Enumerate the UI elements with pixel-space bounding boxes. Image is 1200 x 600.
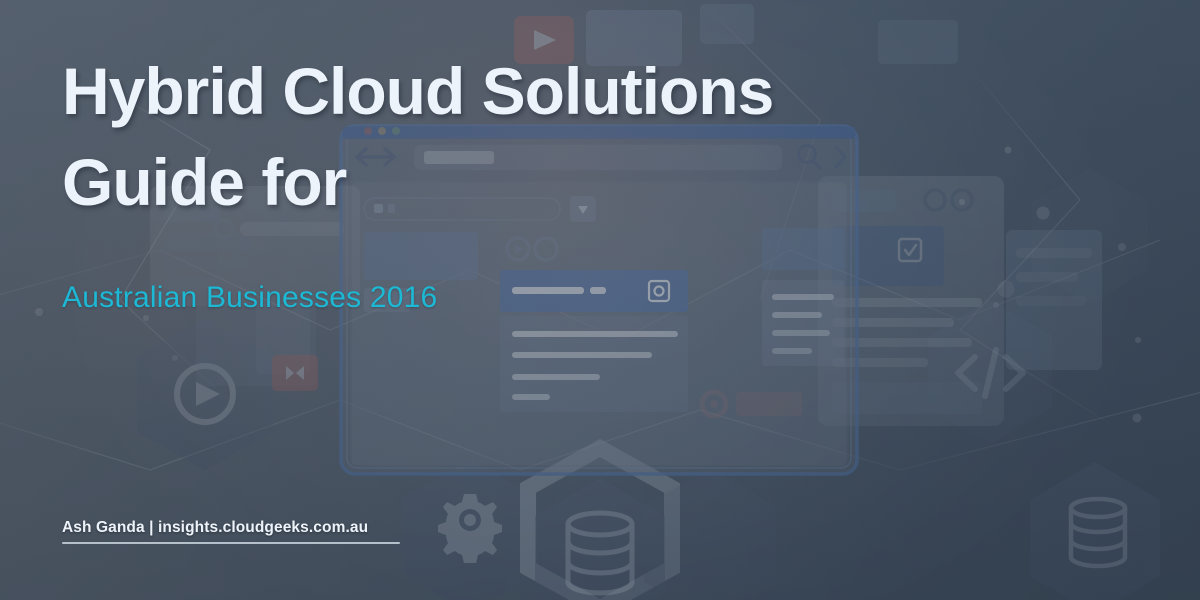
poster-content: Hybrid Cloud Solutions Guide for Austral… <box>0 0 1200 600</box>
poster-canvas: Hybrid Cloud Solutions Guide for Austral… <box>0 0 1200 600</box>
footer-byline: Ash Ganda | insights.cloudgeeks.com.au <box>62 519 402 537</box>
page-subtitle: Australian Businesses 2016 <box>62 281 437 315</box>
footer: Ash Ganda | insights.cloudgeeks.com.au <box>62 519 402 544</box>
footer-divider <box>62 542 400 544</box>
page-title: Hybrid Cloud Solutions Guide for <box>62 46 922 228</box>
